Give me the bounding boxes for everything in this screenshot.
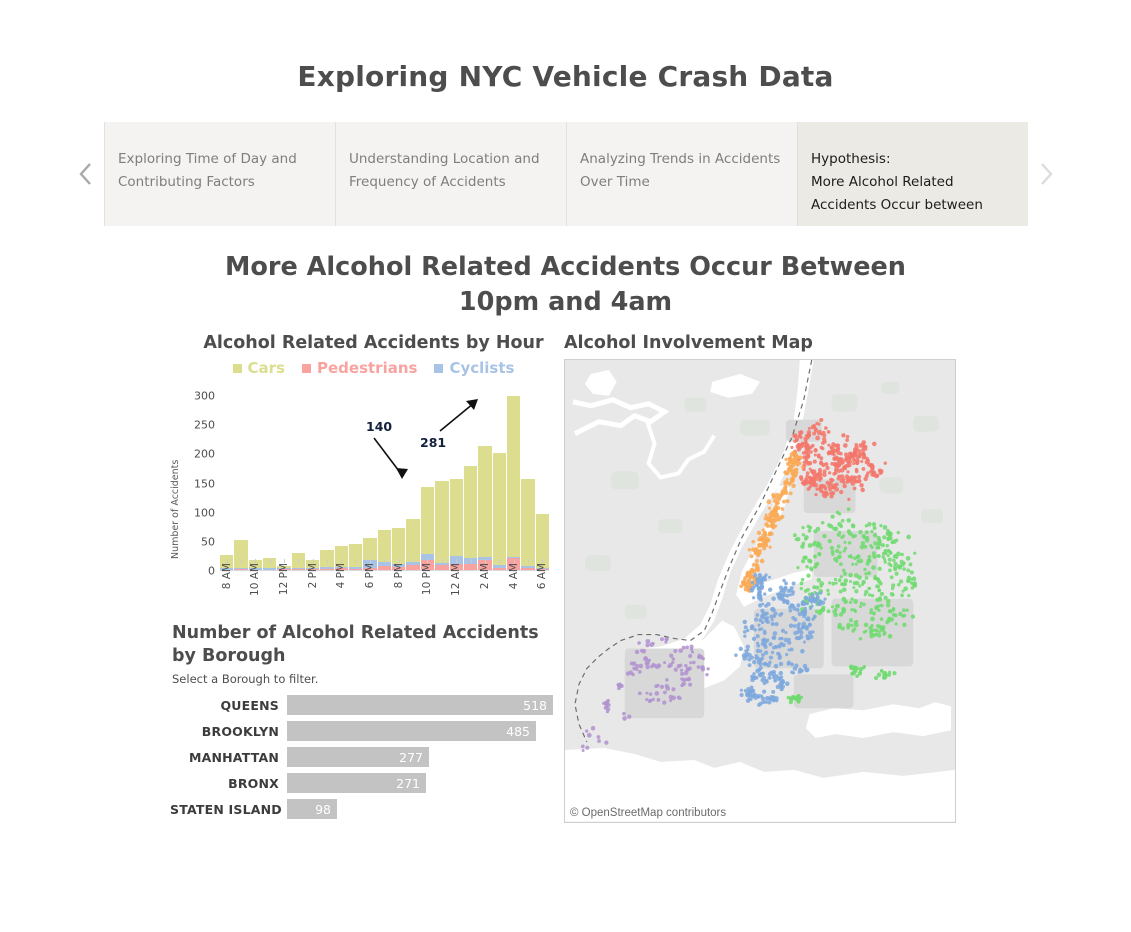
x-tick-label: 2 PM <box>307 563 319 588</box>
borough-bar[interactable]: 485 <box>287 721 536 741</box>
x-tick-cell: 10 PM <box>421 559 434 623</box>
hour-bar[interactable] <box>277 396 290 571</box>
hour-chart-plot-area: 050100150200250300 140 281 <box>220 381 555 571</box>
x-tick-cell: 4 PM <box>335 559 348 623</box>
x-tick-cell: 8 PM <box>392 559 405 623</box>
x-tick-cell <box>435 559 448 623</box>
x-tick-cell: 10 AM <box>249 559 262 623</box>
x-tickmark <box>442 559 443 563</box>
y-tick-150: 150 <box>194 477 215 490</box>
hour-chart-legend: Cars Pedestrians Cyclists <box>170 359 555 377</box>
borough-label: MANHATTAN <box>170 750 287 765</box>
chevron-left-icon <box>76 159 96 189</box>
hour-bar[interactable] <box>349 396 362 571</box>
legend-swatch-cars <box>233 364 242 373</box>
x-tick-cell <box>378 559 391 623</box>
x-tick-cell <box>521 559 534 623</box>
x-tick-cell: 6 PM <box>363 559 376 623</box>
bar-segment <box>493 453 506 566</box>
map-title: Alcohol Involvement Map <box>564 332 957 355</box>
borough-row[interactable]: MANHATTAN277 <box>170 746 555 768</box>
x-tick-label: 4 AM <box>508 563 520 589</box>
bar-segment <box>464 466 477 558</box>
x-tick-cell: 6 AM <box>536 559 549 623</box>
legend-label-pedestrians: Pedestrians <box>317 359 417 377</box>
borough-track: 518 <box>287 695 555 715</box>
legend-label-cars: Cars <box>248 359 285 377</box>
story-tabs: Exploring Time of Day and Contributing F… <box>104 122 1028 226</box>
x-tick-cell <box>406 559 419 623</box>
next-story-point-button[interactable] <box>1028 122 1064 226</box>
x-tick-label: 12 AM <box>450 563 462 596</box>
borough-label: BROOKLYN <box>170 724 287 739</box>
hour-bar[interactable] <box>220 396 233 571</box>
bar-segment <box>507 396 520 556</box>
borough-chart-title: Number of Alcohol Related Accidents by B… <box>170 622 555 668</box>
borough-bar[interactable]: 277 <box>287 747 429 767</box>
alcohol-involvement-map[interactable]: © OpenStreetMap contributors <box>564 359 956 823</box>
bar-segment <box>521 479 534 566</box>
page-title: Exploring NYC Vehicle Crash Data <box>0 0 1131 93</box>
x-tick-label: 8 AM <box>221 563 233 589</box>
bar-segment <box>406 519 419 562</box>
hour-bar[interactable] <box>249 396 262 571</box>
story-tabstrip: Exploring Time of Day and Contributing F… <box>68 122 1064 226</box>
y-tick-100: 100 <box>194 506 215 519</box>
borough-bar[interactable]: 518 <box>287 695 553 715</box>
x-axis-labels: 8 AM10 AM12 PM2 PM4 PM6 PM8 PM10 PM12 AM… <box>220 559 549 623</box>
bar-segment <box>378 530 391 563</box>
x-tick-cell: 12 AM <box>450 559 463 623</box>
borough-label: STATEN ISLAND <box>170 802 287 817</box>
legend-item-pedestrians[interactable]: Pedestrians <box>302 359 417 377</box>
borough-label: QUEENS <box>170 698 287 713</box>
story-heading: More Alcohol Related Accidents Occur Bet… <box>0 250 1131 320</box>
x-tick-cell: 2 AM <box>478 559 491 623</box>
y-tick-50: 50 <box>201 535 215 548</box>
x-tick-cell <box>320 559 333 623</box>
hour-bar-chart: Number of Accidents 050100150200250300 1… <box>170 381 555 626</box>
hour-bar[interactable] <box>521 396 534 571</box>
borough-chart-subtitle: Select a Borough to filter. <box>172 672 555 686</box>
borough-row[interactable]: BRONX271 <box>170 772 555 794</box>
map-attribution: © OpenStreetMap contributors <box>566 806 731 821</box>
x-tick-cell <box>292 559 305 623</box>
x-tick-cell <box>464 559 477 623</box>
prev-story-point-button[interactable] <box>68 122 104 226</box>
hour-bar[interactable] <box>263 396 276 571</box>
x-tickmark <box>327 559 328 563</box>
bar-segment <box>363 538 376 560</box>
legend-swatch-pedestrians <box>302 364 311 373</box>
x-tick-label: 6 PM <box>364 563 376 588</box>
borough-track: 271 <box>287 773 555 793</box>
x-tick-label: 4 PM <box>335 563 347 588</box>
hour-chart-title: Alcohol Related Accidents by Hour <box>170 332 555 355</box>
legend-item-cyclists[interactable]: Cyclists <box>434 359 514 377</box>
x-tickmark <box>241 559 242 563</box>
x-tick-cell: 2 PM <box>306 559 319 623</box>
x-tick-cell <box>493 559 506 623</box>
hour-bar[interactable] <box>536 396 549 571</box>
x-tickmark <box>270 559 271 563</box>
x-tickmark <box>384 559 385 563</box>
x-tick-cell <box>263 559 276 623</box>
bar-segment <box>421 487 434 554</box>
y-tick-250: 250 <box>194 419 215 432</box>
x-tick-cell: 4 AM <box>507 559 520 623</box>
y-axis-label: Number of Accidents <box>170 429 186 589</box>
x-tick-cell <box>349 559 362 623</box>
bar-segment <box>435 481 448 563</box>
legend-item-cars[interactable]: Cars <box>233 359 285 377</box>
borough-track: 485 <box>287 721 555 741</box>
x-tick-label: 2 AM <box>479 563 491 589</box>
x-tickmark <box>413 559 414 563</box>
bar-segment <box>478 446 491 557</box>
legend-label-cyclists: Cyclists <box>449 359 514 377</box>
borough-track: 277 <box>287 747 555 767</box>
x-tick-label: 6 AM <box>536 563 548 589</box>
borough-row[interactable]: BROOKLYN485 <box>170 720 555 742</box>
legend-swatch-cyclists <box>434 364 443 373</box>
left-column: Alcohol Related Accidents by Hour Cars P… <box>170 332 555 824</box>
right-column: Alcohol Involvement Map <box>564 332 957 823</box>
x-tick-label: 10 PM <box>421 563 433 595</box>
map-canvas <box>565 360 955 822</box>
bar-segment <box>450 479 463 556</box>
tab-analyzing-trends[interactable]: Analyzing Trends in Accidents Over Time <box>566 122 797 226</box>
hour-bar[interactable] <box>320 396 333 571</box>
hour-bar[interactable] <box>493 396 506 571</box>
borough-bar-chart: QUEENS518BROOKLYN485MANHATTAN277BRONX271… <box>170 694 555 820</box>
x-tick-label: 8 PM <box>393 563 405 588</box>
x-tickmark <box>499 559 500 563</box>
annotation-arrow-281 <box>438 393 494 437</box>
annotation-label-281: 281 <box>420 435 446 450</box>
hour-bar[interactable] <box>421 396 434 571</box>
x-tick-cell <box>234 559 247 623</box>
hour-bar[interactable] <box>292 396 305 571</box>
x-tickmark <box>528 559 529 563</box>
hour-bar[interactable] <box>507 396 520 571</box>
annotation-arrow-140 <box>370 435 420 487</box>
annotation-label-140: 140 <box>366 419 392 434</box>
hour-bar[interactable] <box>335 396 348 571</box>
x-tickmark <box>471 559 472 563</box>
borough-bar[interactable]: 271 <box>287 773 426 793</box>
tab-exploring-time-of-day[interactable]: Exploring Time of Day and Contributing F… <box>104 122 335 226</box>
borough-row[interactable]: QUEENS518 <box>170 694 555 716</box>
hour-bar[interactable] <box>234 396 247 571</box>
x-tickmark <box>298 559 299 563</box>
tab-understanding-location[interactable]: Understanding Location and Frequency of … <box>335 122 566 226</box>
y-tick-300: 300 <box>194 390 215 403</box>
x-tick-cell: 8 AM <box>220 559 233 623</box>
y-tick-0: 0 <box>208 565 215 578</box>
hour-bar[interactable] <box>306 396 319 571</box>
x-tickmark <box>356 559 357 563</box>
borough-row[interactable]: STATEN ISLAND98 <box>170 798 555 820</box>
x-tick-label: 12 PM <box>278 563 290 595</box>
tab-hypothesis[interactable]: Hypothesis: More Alcohol Related Acciden… <box>797 122 1028 226</box>
borough-track: 98 <box>287 799 555 819</box>
borough-label: BRONX <box>170 776 287 791</box>
y-tick-200: 200 <box>194 448 215 461</box>
chevron-right-icon <box>1036 159 1056 189</box>
x-tick-label: 10 AM <box>249 563 261 596</box>
borough-bar[interactable]: 98 <box>287 799 337 819</box>
x-tick-cell: 12 PM <box>277 559 290 623</box>
